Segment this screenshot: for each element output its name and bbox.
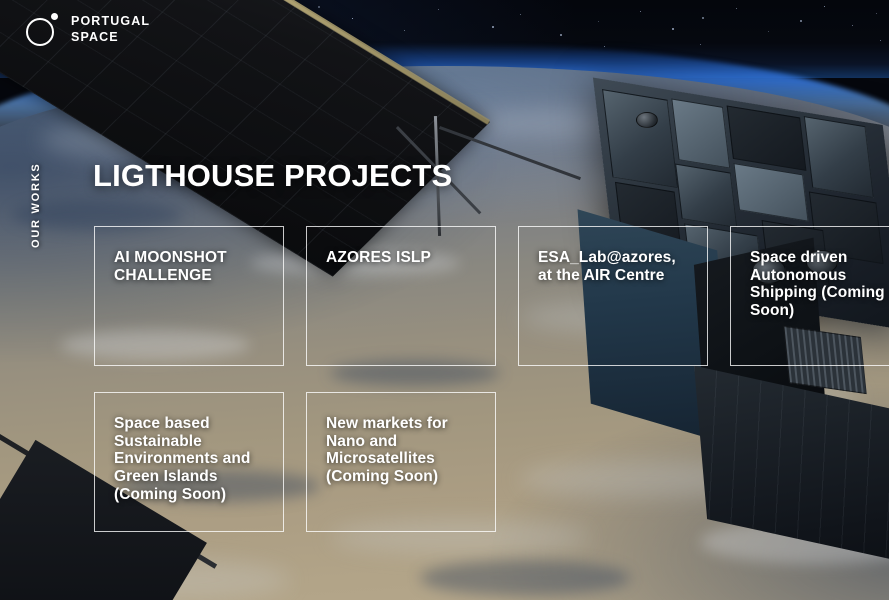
project-card[interactable]: Space driven Autonomous Shipping (Coming… <box>730 226 889 366</box>
circle-dot-logo-icon <box>26 12 60 46</box>
project-card-title: AI MOONSHOT CHALLENGE <box>114 249 266 284</box>
project-card-title: Space driven Autonomous Shipping (Coming… <box>750 249 889 320</box>
logo-text-line2: SPACE <box>71 29 150 45</box>
project-card[interactable]: ESA_Lab@azores, at the AIR Centre <box>518 226 708 366</box>
project-card[interactable]: New markets for Nano and Microsatellites… <box>306 392 496 532</box>
logo-ring-icon <box>26 18 54 46</box>
main-content: OUR WORKS LIGTHOUSE PROJECTS AI MOONSHOT… <box>0 0 889 600</box>
project-card[interactable]: AZORES ISLP <box>306 226 496 366</box>
project-card-title: New markets for Nano and Microsatellites… <box>326 415 478 486</box>
projects-grid: AI MOONSHOT CHALLENGEAZORES ISLPESA_Lab@… <box>94 226 889 532</box>
our-works-vertical-label: OUR WORKS <box>30 162 42 248</box>
logo-text-line1: PORTUGAL <box>71 13 150 29</box>
project-card[interactable]: AI MOONSHOT CHALLENGE <box>94 226 284 366</box>
project-card[interactable]: Space based Sustainable Environments and… <box>94 392 284 532</box>
logo[interactable]: PORTUGAL SPACE <box>26 12 150 46</box>
page-title: LIGTHOUSE PROJECTS <box>93 158 452 194</box>
project-card-title: AZORES ISLP <box>326 249 478 267</box>
site-header: PORTUGAL SPACE <box>0 0 889 62</box>
page-root: PORTUGAL SPACE OUR WORKS LIGTHOUSE PROJE… <box>0 0 889 600</box>
logo-dot-icon <box>51 13 58 20</box>
project-card-title: ESA_Lab@azores, at the AIR Centre <box>538 249 690 284</box>
logo-text: PORTUGAL SPACE <box>71 13 150 45</box>
project-card-title: Space based Sustainable Environments and… <box>114 415 266 503</box>
